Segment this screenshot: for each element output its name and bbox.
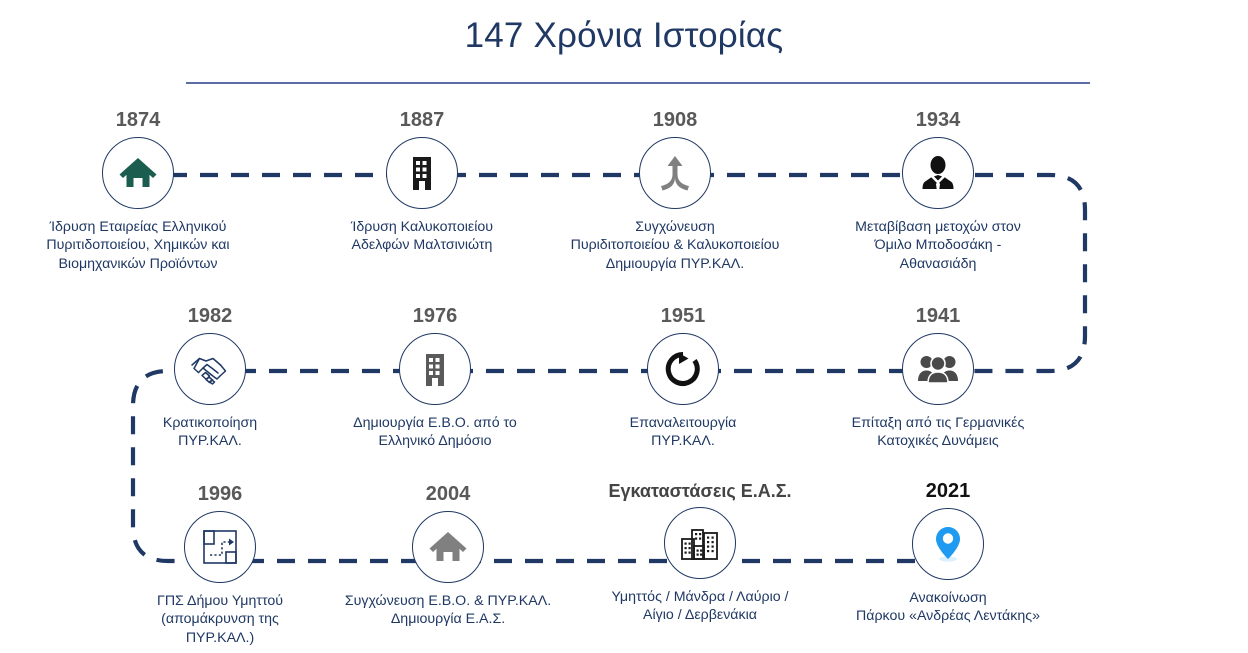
timeline-icon-circle[interactable] — [174, 333, 246, 405]
timeline-year: 2004 — [318, 484, 578, 504]
timeline-item-installations[interactable]: Εγκαταστάσεις Ε.Α.Σ. — [570, 482, 830, 625]
cityscape-icon — [679, 524, 721, 562]
timeline-year: 1934 — [808, 110, 1068, 130]
timeline-description: Ανακοίνωση Πάρκου «Ανδρέας Λεντάκης» — [818, 589, 1078, 626]
page-title: 147 Χρόνια Ιστορίας — [0, 16, 1248, 56]
timeline-item-1996[interactable]: 1996 ΓΠΣ Δήμου Υμηττού (απομάκρυνση της … — [90, 484, 350, 647]
timeline-icon-circle[interactable] — [902, 333, 974, 405]
timeline-item-2004[interactable]: 2004 Συγχώνευση Ε.Β.Ο. & ΠΥΡ.ΚΑΛ. Δημιου… — [318, 484, 578, 629]
timeline-year: 1982 — [80, 306, 340, 326]
timeline-item-1934[interactable]: 1934 Μεταβίβαση μετοχών στον Όμιλο Μποδο… — [808, 110, 1068, 273]
merge-arrow-icon — [655, 153, 695, 193]
timeline-icon-circle[interactable] — [184, 511, 256, 583]
timeline-year: 1874 — [8, 110, 268, 130]
timeline-year: 2021 — [818, 481, 1078, 501]
timeline-description: Δημιουργία Ε.Β.Ο. από το Ελληνικό Δημόσι… — [305, 414, 565, 451]
timeline-year: 1951 — [553, 306, 813, 326]
timeline-description: Μεταβίβαση μετοχών στον Όμιλο Μποδοσάκη … — [808, 218, 1068, 273]
timeline-year: 1976 — [305, 306, 565, 326]
businessman-icon — [919, 154, 957, 192]
timeline-item-1908[interactable]: 1908 Συγχώνευση Πυριδιτοποιείου & Καλυκο… — [545, 110, 805, 273]
timeline-item-1951[interactable]: 1951 Επαναλειτουργία ΠΥΡ.ΚΑΛ. — [553, 306, 813, 451]
timeline-item-2021[interactable]: 2021 Ανακοίνωση Πάρκου «Ανδρέας Λεντάκης… — [818, 481, 1078, 626]
timeline-year: 1887 — [292, 110, 552, 130]
timeline-icon-circle[interactable] — [412, 511, 484, 583]
timeline-icon-circle[interactable] — [912, 508, 984, 580]
timeline-description: Συγχώνευση Πυριδιτοποιείου & Καλυκοποιεί… — [545, 218, 805, 273]
people-group-icon — [917, 353, 959, 385]
timeline-description: Ίδρυση Καλυκοποιείου Αδελφών Μαλτσινιώτη — [292, 218, 552, 255]
timeline-year: 1908 — [545, 110, 805, 130]
timeline-year: 1996 — [90, 484, 350, 504]
timeline-icon-circle[interactable] — [639, 137, 711, 209]
timeline-description: Συγχώνευση Ε.Β.Ο. & ΠΥΡ.ΚΑΛ. Δημιουργία … — [318, 592, 578, 629]
house-icon — [428, 527, 468, 567]
timeline-description: Κρατικοποίηση ΠΥΡ.ΚΑΛ. — [80, 414, 340, 451]
timeline-item-1982[interactable]: 1982 Κρατικοποίηση ΠΥΡ.ΚΑΛ. — [80, 306, 340, 451]
timeline-infographic: 147 Χρόνια Ιστορίας 1874 Ίδρυση Εταιρεία… — [0, 0, 1248, 653]
handshake-icon — [189, 351, 231, 387]
timeline-item-1941[interactable]: 1941 Επίταξη από τις Γερμανικές Κατοχικέ… — [808, 306, 1068, 451]
timeline-description: Επαναλειτουργία ΠΥΡ.ΚΑΛ. — [553, 414, 813, 451]
timeline-icon-circle[interactable] — [102, 137, 174, 209]
timeline-item-1887[interactable]: 1887 Ίδρυση Καλυκοποιείου Αδελφών Μαλτσι… — [292, 110, 552, 255]
relocation-plan-icon — [200, 527, 240, 567]
map-pin-icon — [931, 524, 965, 564]
timeline-group-heading: Εγκαταστάσεις Ε.Α.Σ. — [570, 482, 830, 500]
timeline-description: ΓΠΣ Δήμου Υμηττού (απομάκρυνση της ΠΥΡ.Κ… — [90, 592, 350, 647]
timeline-description: Υμηττός / Μάνδρα / Λαύριο / Αίγιο / Δερβ… — [570, 588, 830, 625]
title-divider — [186, 82, 1090, 84]
timeline-year: 1941 — [808, 306, 1068, 326]
timeline-item-1874[interactable]: 1874 Ίδρυση Εταιρείας Ελληνικού Πυριτιδο… — [8, 110, 268, 273]
restart-icon — [664, 350, 702, 388]
timeline-icon-circle[interactable] — [647, 333, 719, 405]
factory-building-icon — [418, 350, 452, 388]
timeline-icon-circle[interactable] — [664, 507, 736, 579]
timeline-description: Ίδρυση Εταιρείας Ελληνικού Πυριτιδοποιεί… — [8, 218, 268, 273]
timeline-icon-circle[interactable] — [902, 137, 974, 209]
timeline-item-1976[interactable]: 1976 Δημιουργία Ε.Β.Ο. από το Ελληνικό Δ… — [305, 306, 565, 451]
timeline-icon-circle[interactable] — [386, 137, 458, 209]
house-icon — [118, 153, 158, 193]
timeline-description: Επίταξη από τις Γερμανικές Κατοχικές Δυν… — [808, 414, 1068, 451]
timeline-icon-circle[interactable] — [399, 333, 471, 405]
office-building-icon — [404, 154, 440, 192]
